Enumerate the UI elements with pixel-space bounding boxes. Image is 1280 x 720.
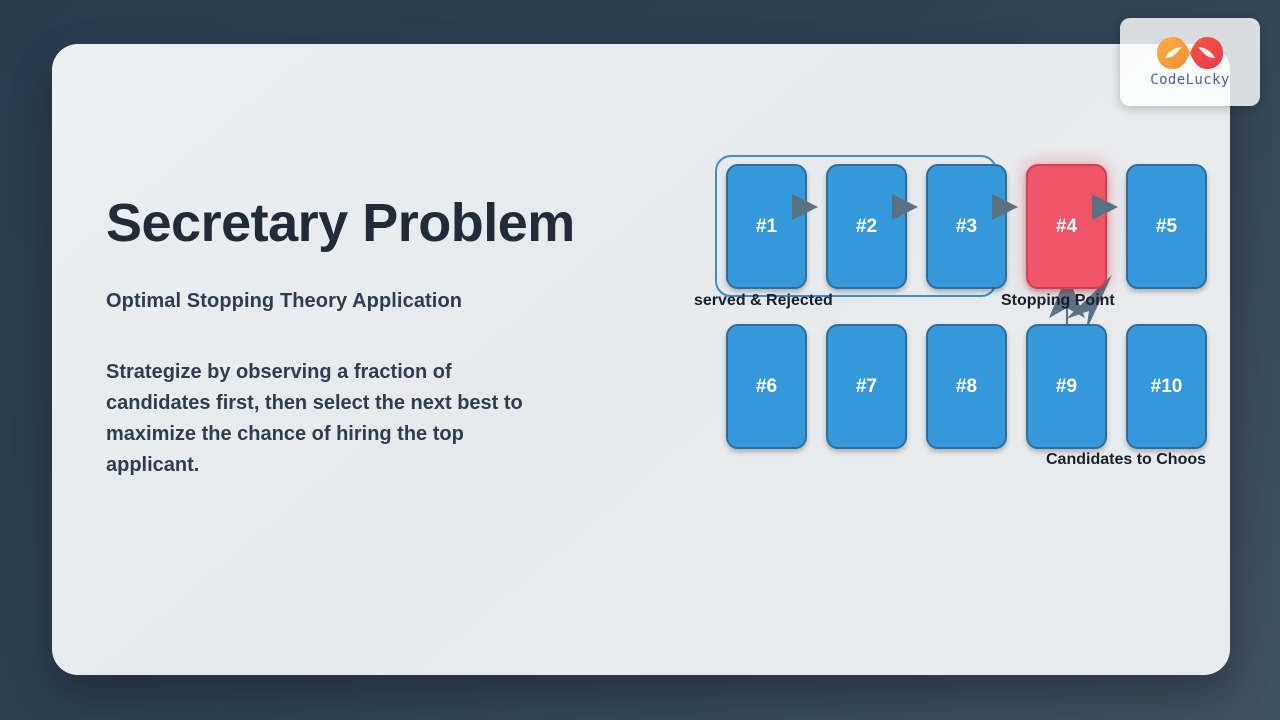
candidate-card[interactable]: #8 (926, 324, 1007, 449)
candidate-card-label: #1 (756, 216, 777, 238)
candidate-card-label: #9 (1056, 376, 1077, 398)
candidate-card[interactable]: #3 (926, 164, 1007, 289)
candidate-card[interactable]: #6 (726, 324, 807, 449)
codelucky-watermark: CodeLucky (1120, 18, 1260, 106)
candidate-card-label: #2 (856, 216, 877, 238)
slide-body-text: Strategize by observing a fraction of ca… (106, 357, 558, 481)
candidates-pool-label: Candidates to Choos (1046, 451, 1206, 469)
codelucky-infinity-leaf-icon (1156, 36, 1224, 70)
flow-arrow-icon (792, 194, 818, 220)
candidate-card[interactable]: #9 (1026, 324, 1107, 449)
text-column: Secretary Problem Optimal Stopping Theor… (106, 194, 576, 481)
codelucky-wordmark: CodeLucky (1150, 72, 1229, 88)
page-title: Secretary Problem (106, 194, 576, 252)
candidate-card-label: #7 (856, 376, 877, 398)
flow-arrow-icon (992, 194, 1018, 220)
candidate-card-label: #3 (956, 216, 977, 238)
candidate-card[interactable]: #7 (826, 324, 907, 449)
candidate-card-label: #6 (756, 376, 777, 398)
candidate-card[interactable]: #2 (826, 164, 907, 289)
flow-arrow-icon (892, 194, 918, 220)
candidate-card-label: #8 (956, 376, 977, 398)
flow-arrow-icon (1092, 194, 1118, 220)
candidate-card[interactable]: #1 (726, 164, 807, 289)
stopping-point-card-label: #4 (1056, 216, 1077, 238)
candidates-diagram: #1 #2 #3 #4 #5 served & Rejected Stoppin… (652, 94, 1230, 514)
slide-stage: Secretary Problem Optimal Stopping Theor… (0, 0, 1280, 720)
observed-group-label: served & Rejected (694, 292, 833, 310)
stopping-point-label: Stopping Point (1001, 292, 1115, 310)
candidate-card-label: #10 (1151, 376, 1183, 398)
candidate-card[interactable]: #10 (1126, 324, 1207, 449)
candidate-card-label: #5 (1156, 216, 1177, 238)
candidate-card[interactable]: #5 (1126, 164, 1207, 289)
slide-card: Secretary Problem Optimal Stopping Theor… (52, 44, 1230, 675)
stopping-point-card[interactable]: #4 (1026, 164, 1107, 289)
slide-subtitle: Optimal Stopping Theory Application (106, 290, 576, 313)
